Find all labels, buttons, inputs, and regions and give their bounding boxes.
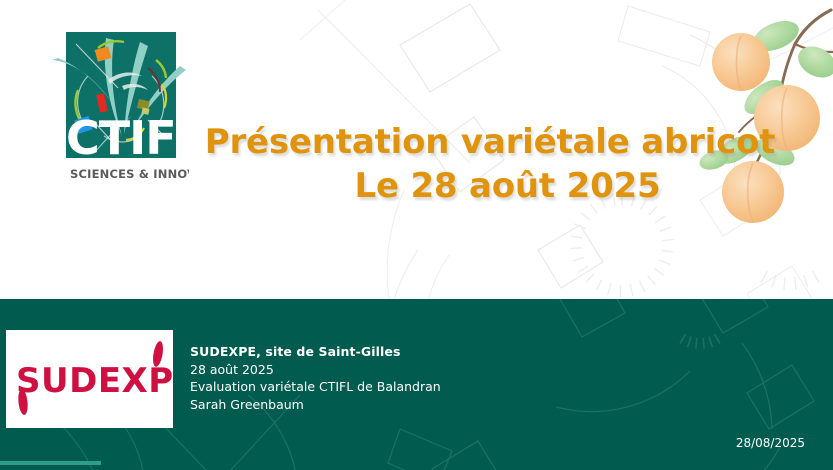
date-stamp: 28/08/2025 [736, 436, 805, 450]
footer-details: SUDEXPE, site de Saint-Gilles 28 août 20… [190, 343, 441, 413]
ctifl-wordmark: CTIFL [66, 111, 189, 165]
title-line-1: Présentation variétale abricot [190, 120, 790, 164]
presentation-title-slide: CTIFL SCIENCES & INNOVATION Présentation… [0, 0, 833, 470]
sudexpe-wordmark: SUDEXPE [16, 361, 173, 401]
footer-line-2: 28 août 2025 [190, 361, 441, 379]
slide-title: Présentation variétale abricot Le 28 aoû… [190, 120, 790, 208]
sudexpe-logo: SUDEXPE [6, 330, 173, 428]
accent-bar [0, 461, 101, 465]
ctifl-logo: CTIFL SCIENCES & INNOVATION [52, 32, 189, 196]
title-line-2: Le 28 août 2025 [190, 164, 790, 208]
footer-line-4: Sarah Greenbaum [190, 396, 441, 414]
footer-line-3: Evaluation variétale CTIFL de Balandran [190, 378, 441, 396]
footer-line-1: SUDEXPE, site de Saint-Gilles [190, 343, 441, 361]
ctifl-tagline: SCIENCES & INNOVATION [70, 167, 189, 181]
